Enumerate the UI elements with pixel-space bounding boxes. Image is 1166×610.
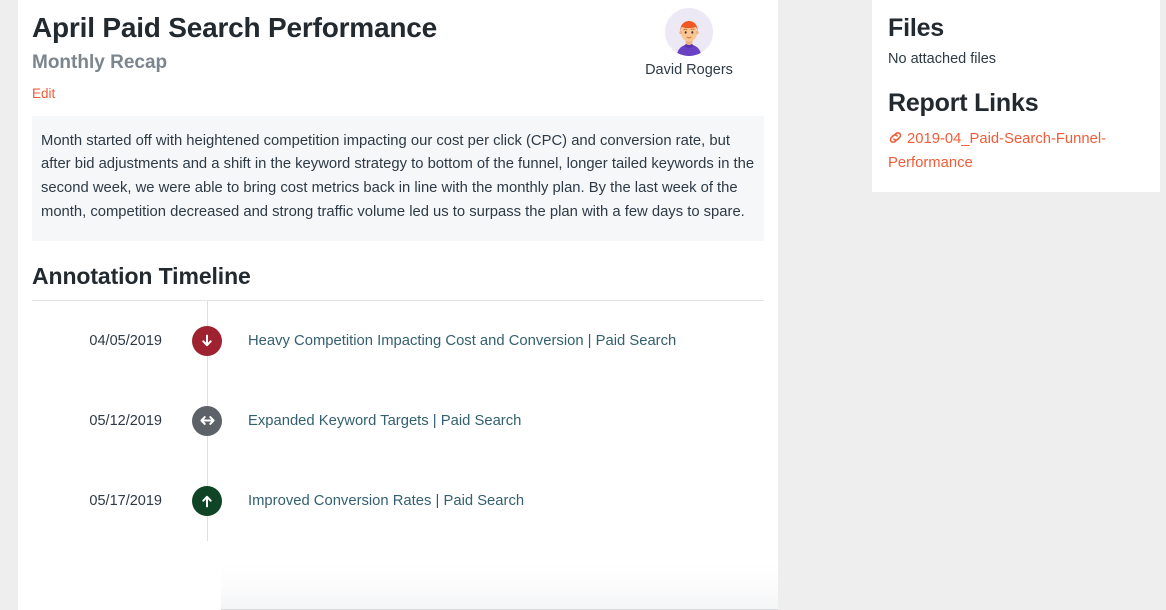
timeline-row: 04/05/2019 Heavy Competition Impacting C… bbox=[32, 301, 764, 381]
annotation-timeline: 04/05/2019 Heavy Competition Impacting C… bbox=[32, 301, 764, 541]
link-chain-icon bbox=[888, 130, 903, 152]
report-header: April Paid Search Performance Monthly Re… bbox=[32, 0, 764, 103]
timeline-date: 05/17/2019 bbox=[32, 493, 180, 509]
arrow-left-right-icon bbox=[199, 412, 216, 429]
report-summary: Month started off with heightened compet… bbox=[32, 116, 764, 241]
edit-link[interactable]: Edit bbox=[32, 86, 55, 101]
timeline-badge-wrap bbox=[180, 326, 234, 356]
report-links-heading: Report Links bbox=[888, 89, 1144, 118]
timeline-annotation-link[interactable]: Heavy Competition Impacting Cost and Con… bbox=[234, 333, 676, 349]
report-link-text: 2019-04_Paid-Search-Funnel-Performance bbox=[888, 131, 1106, 171]
files-heading: Files bbox=[888, 14, 1144, 43]
timeline-annotation-link[interactable]: Improved Conversion Rates | Paid Search bbox=[234, 493, 524, 509]
author-block: David Rogers bbox=[614, 8, 764, 80]
report-link-item[interactable]: 2019-04_Paid-Search-Funnel-Performance bbox=[888, 128, 1144, 174]
files-empty-text: No attached files bbox=[888, 51, 1144, 67]
arrow-down-icon bbox=[199, 333, 215, 349]
annotation-timeline-heading: Annotation Timeline bbox=[32, 263, 764, 290]
page-root: April Paid Search Performance Monthly Re… bbox=[0, 0, 1166, 610]
timeline-annotation-link[interactable]: Expanded Keyword Targets | Paid Search bbox=[234, 413, 521, 429]
sidebar-card: Files No attached files Report Links 201… bbox=[872, 0, 1160, 192]
bottom-panel-edge bbox=[221, 564, 778, 610]
timeline-badge[interactable] bbox=[192, 326, 222, 356]
timeline-badge[interactable] bbox=[192, 406, 222, 436]
timeline-row: 05/12/2019 Expanded Keyword Targets | Pa… bbox=[32, 381, 764, 461]
timeline-badge-wrap bbox=[180, 406, 234, 436]
timeline-date: 04/05/2019 bbox=[32, 333, 180, 349]
timeline-date: 05/12/2019 bbox=[32, 413, 180, 429]
timeline-row: 05/17/2019 Improved Conversion Rates | P… bbox=[32, 461, 764, 541]
timeline-badge-wrap bbox=[180, 486, 234, 516]
author-name: David Rogers bbox=[614, 61, 764, 80]
timeline-badge[interactable] bbox=[192, 486, 222, 516]
report-main-card: April Paid Search Performance Monthly Re… bbox=[18, 0, 778, 610]
arrow-up-icon bbox=[199, 493, 215, 509]
avatar bbox=[665, 8, 713, 56]
